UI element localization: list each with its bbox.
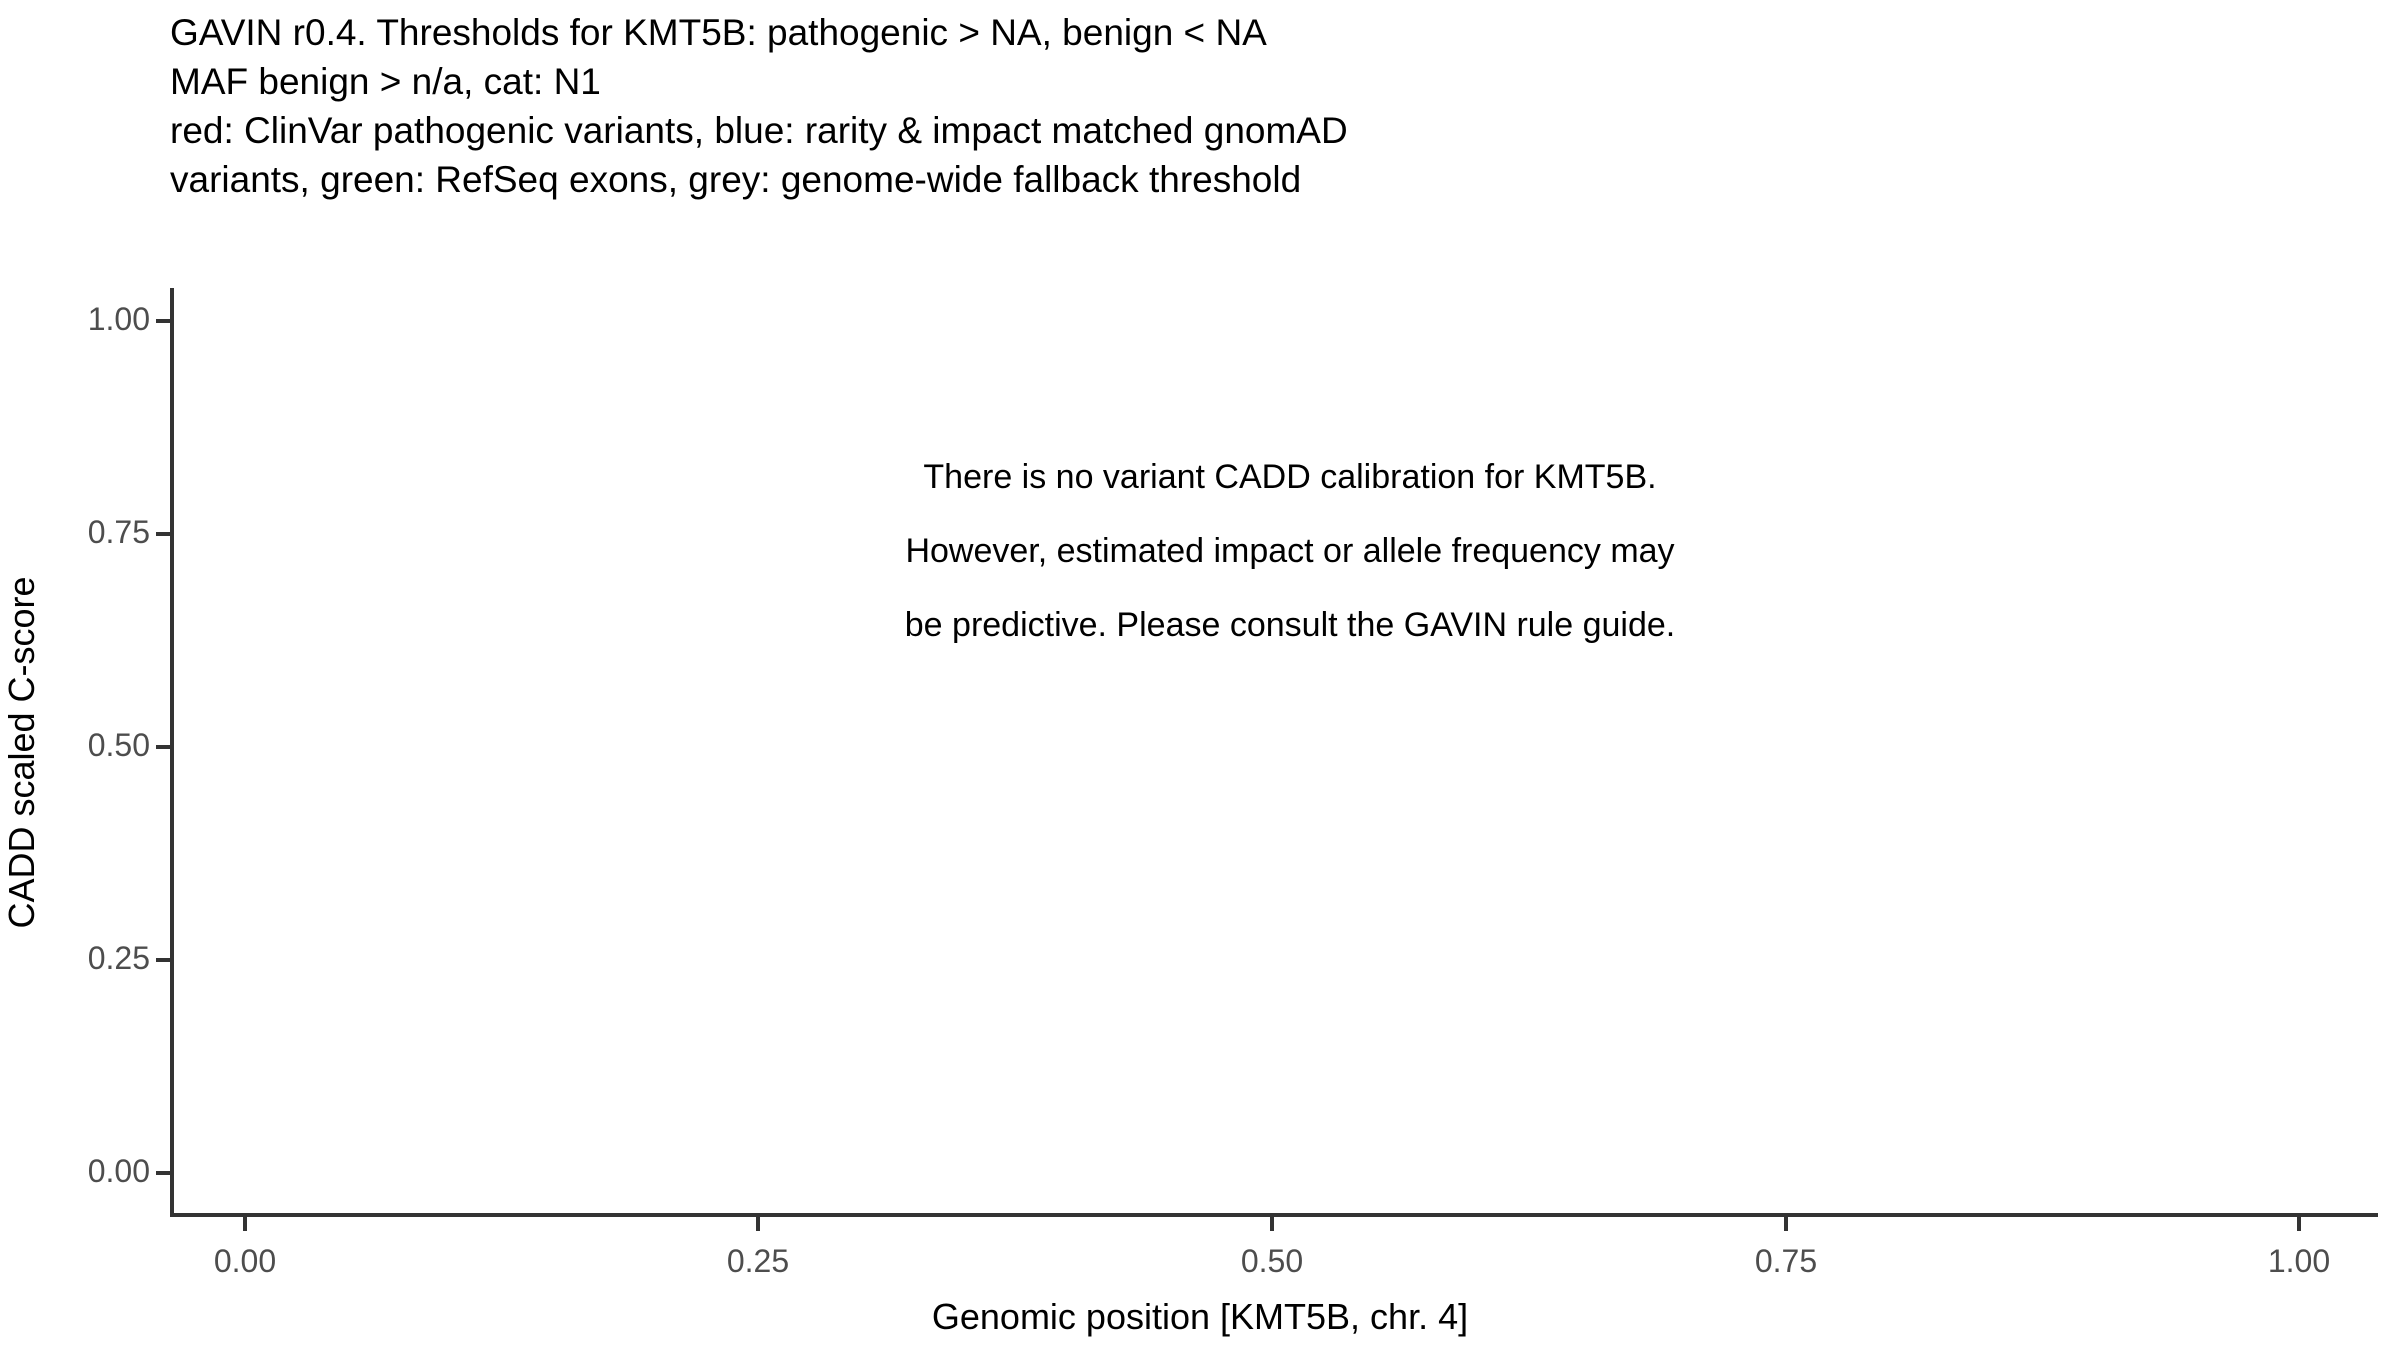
x-tick-mark-0.00 [243,1217,247,1231]
plot-panel [172,288,2378,1215]
chart-title-line-1: GAVIN r0.4. Thresholds for KMT5B: pathog… [170,8,2170,57]
y-tick-mark-1.00 [156,319,170,323]
chart-title-block: GAVIN r0.4. Thresholds for KMT5B: pathog… [170,8,2170,204]
y-axis-title: CADD scaled C-score [0,288,44,1217]
x-tick-mark-0.75 [1784,1217,1788,1231]
y-tick-mark-0.25 [156,958,170,962]
no-calibration-annotation: There is no variant CADD calibration for… [760,440,1820,662]
annotation-line-1: There is no variant CADD calibration for… [760,440,1820,514]
chart-canvas: GAVIN r0.4. Thresholds for KMT5B: pathog… [0,0,2400,1350]
x-axis-title: Genomic position [KMT5B, chr. 4] [0,1296,2400,1338]
x-tick-label-0.50: 0.50 [1172,1243,1372,1280]
x-axis-line [170,1213,2378,1217]
x-tick-label-0.75: 0.75 [1686,1243,1886,1280]
y-axis-line [170,288,174,1217]
y-tick-mark-0.50 [156,745,170,749]
annotation-line-2: However, estimated impact or allele freq… [760,514,1820,588]
x-tick-mark-0.50 [1270,1217,1274,1231]
x-tick-label-0.00: 0.00 [145,1243,345,1280]
y-tick-mark-0.75 [156,532,170,536]
chart-title-line-3: red: ClinVar pathogenic variants, blue: … [170,106,2170,155]
chart-title-line-2: MAF benign > n/a, cat: N1 [170,57,2170,106]
annotation-line-3: be predictive. Please consult the GAVIN … [760,588,1820,662]
x-tick-mark-0.25 [756,1217,760,1231]
chart-title-line-4: variants, green: RefSeq exons, grey: gen… [170,155,2170,204]
y-tick-mark-0.00 [156,1171,170,1175]
x-tick-label-0.25: 0.25 [658,1243,858,1280]
x-tick-label-1.00: 1.00 [2199,1243,2399,1280]
x-tick-mark-1.00 [2297,1217,2301,1231]
